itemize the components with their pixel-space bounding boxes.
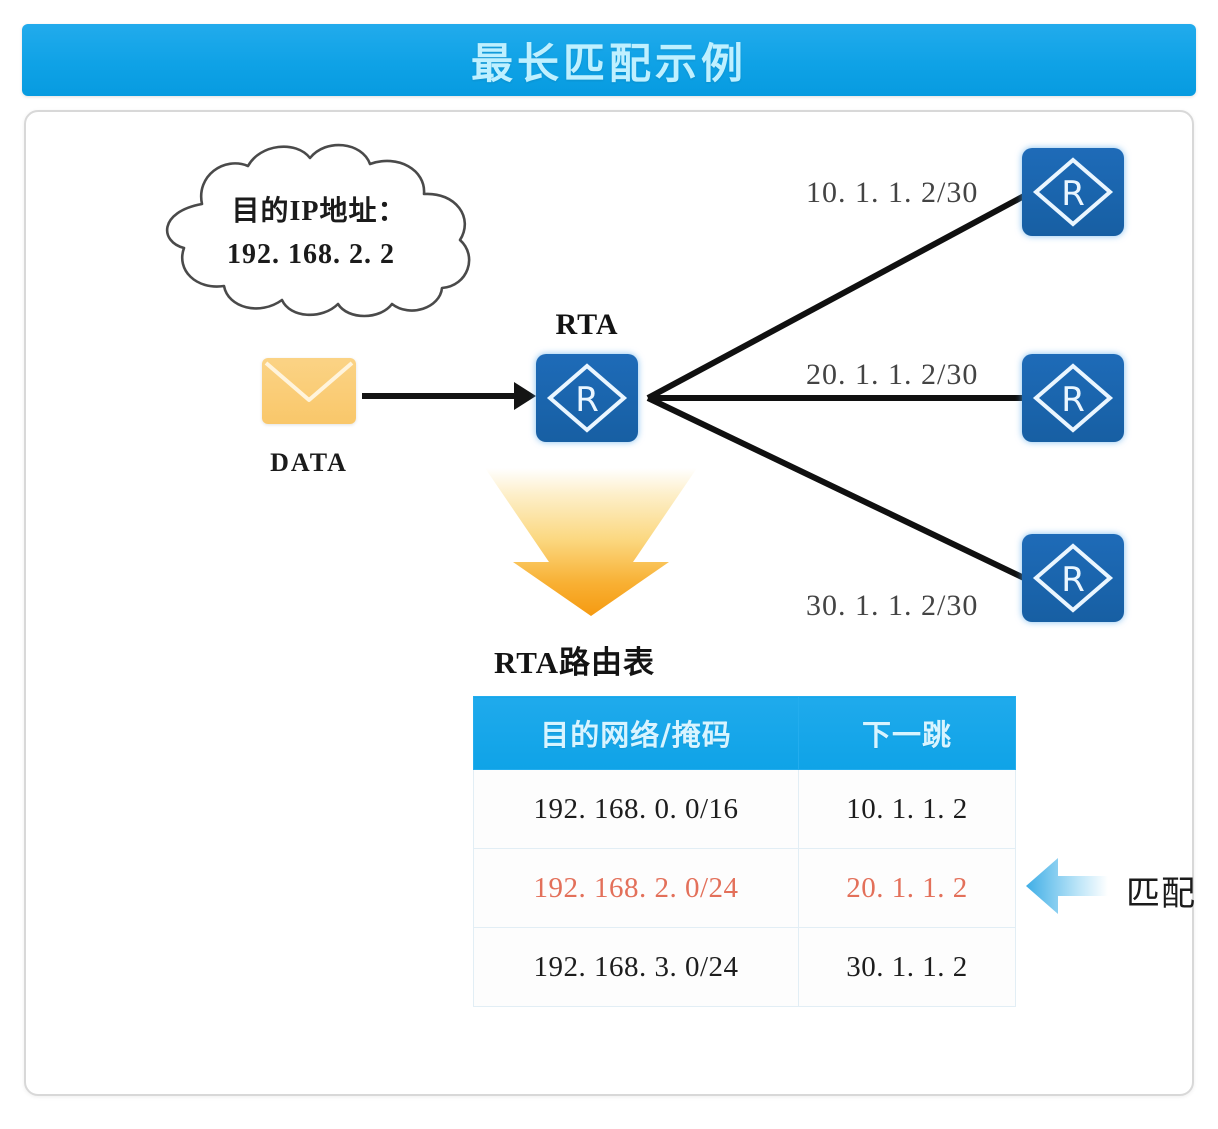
destination-ip-cloud: 目的IP地址： 192. 168. 2. 2 [130,140,496,320]
match-annotation-label: 匹配 [1126,866,1196,915]
link-line-bottom [648,398,1024,578]
down-arrow-icon [483,466,699,618]
svg-text:R: R [1061,560,1085,600]
diagram-stage: 目的IP地址： 192. 168. 2. 2 DATA RTA R R R R [0,0,1218,1129]
rta-label: RTA [536,308,638,342]
cloud-icon [130,140,496,320]
svg-text:R: R [1061,174,1085,214]
cell-network: 192. 168. 3. 0/24 [474,928,799,1007]
cell-next-hop: 20. 1. 1. 2 [799,849,1016,928]
column-header-network: 目的网络/掩码 [474,697,799,770]
router-rta[interactable]: R [536,354,638,442]
svg-text:R: R [575,380,599,420]
link-label-middle: 20. 1. 1. 2/30 [806,358,978,392]
link-label-bottom: 30. 1. 1. 2/30 [806,589,978,623]
envelope-flap-icon [262,358,356,424]
cell-next-hop: 10. 1. 1. 2 [799,770,1016,849]
router-icon: R [1022,148,1124,236]
cell-next-hop: 30. 1. 1. 2 [799,928,1016,1007]
router-icon: R [536,354,638,442]
table-row-matched[interactable]: 192. 168. 2. 0/24 20. 1. 1. 2 [474,849,1016,928]
router-top[interactable]: R [1022,148,1124,236]
column-header-next-hop: 下一跳 [799,697,1016,770]
packet-label: DATA [262,448,356,478]
cell-network: 192. 168. 2. 0/24 [474,849,799,928]
link-label-top: 10. 1. 1. 2/30 [806,176,978,210]
left-arrow-icon [1024,856,1108,916]
routing-table-title: RTA路由表 [494,637,655,682]
down-arrow-shape [483,466,699,618]
packet-flow-arrowhead [514,382,536,410]
left-arrow-shape [1024,856,1108,916]
table-row[interactable]: 192. 168. 3. 0/24 30. 1. 1. 2 [474,928,1016,1007]
routing-table: 目的网络/掩码 下一跳 192. 168. 0. 0/16 10. 1. 1. … [473,696,1016,1007]
svg-text:R: R [1061,380,1085,420]
router-icon: R [1022,354,1124,442]
cell-network: 192. 168. 0. 0/16 [474,770,799,849]
envelope-icon [262,358,356,424]
router-middle[interactable]: R [1022,354,1124,442]
router-icon: R [1022,534,1124,622]
router-bottom[interactable]: R [1022,534,1124,622]
table-header-row: 目的网络/掩码 下一跳 [474,697,1016,770]
table-row[interactable]: 192. 168. 0. 0/16 10. 1. 1. 2 [474,770,1016,849]
